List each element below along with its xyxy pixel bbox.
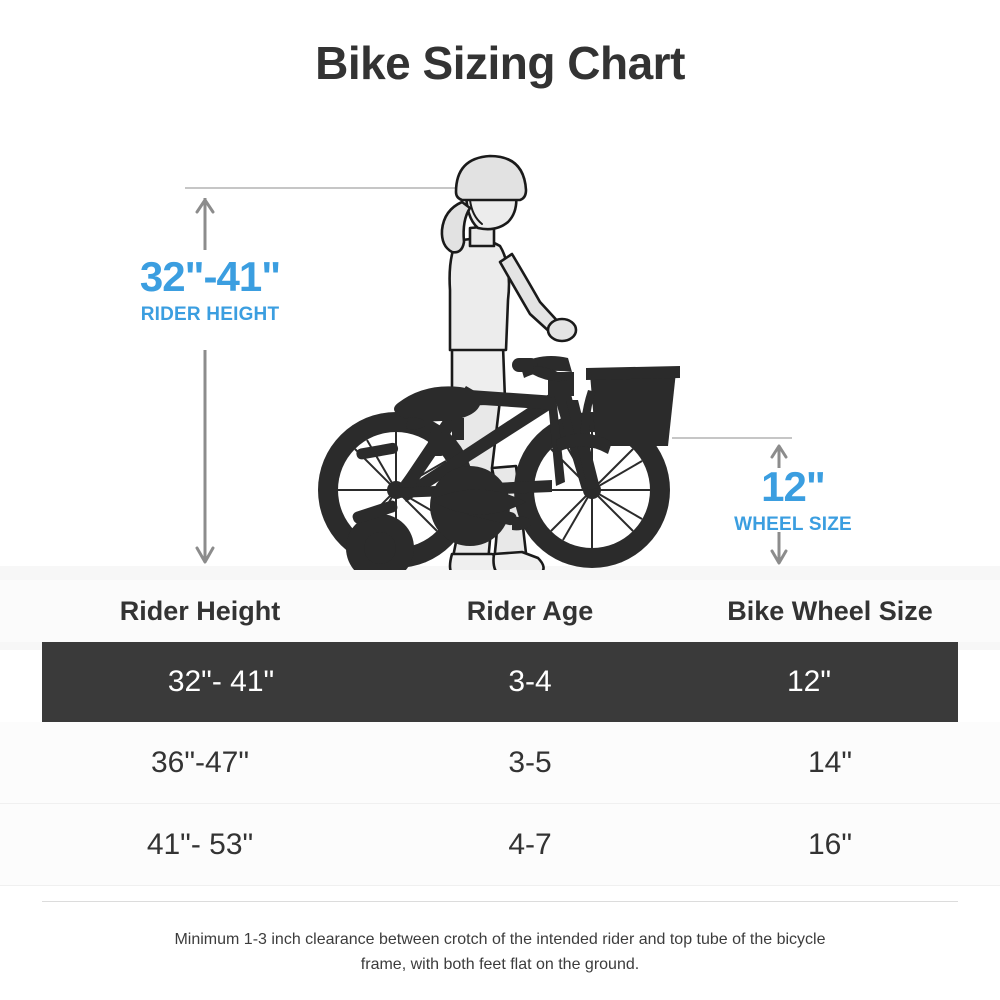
table-header-row: Rider Height Rider Age Bike Wheel Size [0, 580, 1000, 642]
footnote-text: Minimum 1-3 inch clearance between crotc… [150, 928, 850, 978]
cell-rider-age: 3-5 [400, 746, 660, 780]
column-header-rider-height: Rider Height [0, 596, 400, 627]
cell-wheel-size: 12" [660, 665, 958, 699]
cell-rider-age: 4-7 [400, 828, 660, 862]
cell-rider-height: 32"- 41" [42, 665, 400, 699]
column-header-bike-wheel-size: Bike Wheel Size [660, 596, 1000, 627]
wheel-size-annotation: 12" WHEEL SIZE [690, 466, 896, 534]
wheel-size-caption: WHEEL SIZE [690, 515, 896, 534]
wheel-size-arrow-down [772, 532, 786, 563]
wheel-size-value: 12" [690, 466, 896, 508]
footnote-divider [42, 901, 958, 902]
table-row[interactable]: 36"-47" 3-5 14" [0, 722, 1000, 804]
page-title: Bike Sizing Chart [0, 36, 1000, 90]
cell-wheel-size: 14" [660, 746, 1000, 780]
table-row[interactable]: 41"- 53" 4-7 16" [0, 804, 1000, 886]
cell-wheel-size: 16" [660, 828, 1000, 862]
table-row[interactable]: 32"- 41" 3-4 12" [42, 642, 958, 722]
rider-height-annotation: 32"-41" RIDER HEIGHT [60, 256, 360, 324]
rider-height-arrow-up [197, 198, 213, 250]
cell-rider-age: 3-4 [400, 665, 660, 699]
rider-height-value: 32"-41" [60, 256, 360, 298]
column-header-rider-age: Rider Age [400, 596, 660, 627]
rider-height-arrow-down [197, 350, 213, 562]
sizing-table: Rider Height Rider Age Bike Wheel Size 3… [0, 580, 1000, 886]
cell-rider-height: 36"-47" [0, 746, 400, 780]
rider-height-caption: RIDER HEIGHT [60, 305, 360, 324]
cell-rider-height: 41"- 53" [0, 828, 400, 862]
bike-sizing-chart-page: Bike Sizing Chart [0, 0, 1000, 1000]
